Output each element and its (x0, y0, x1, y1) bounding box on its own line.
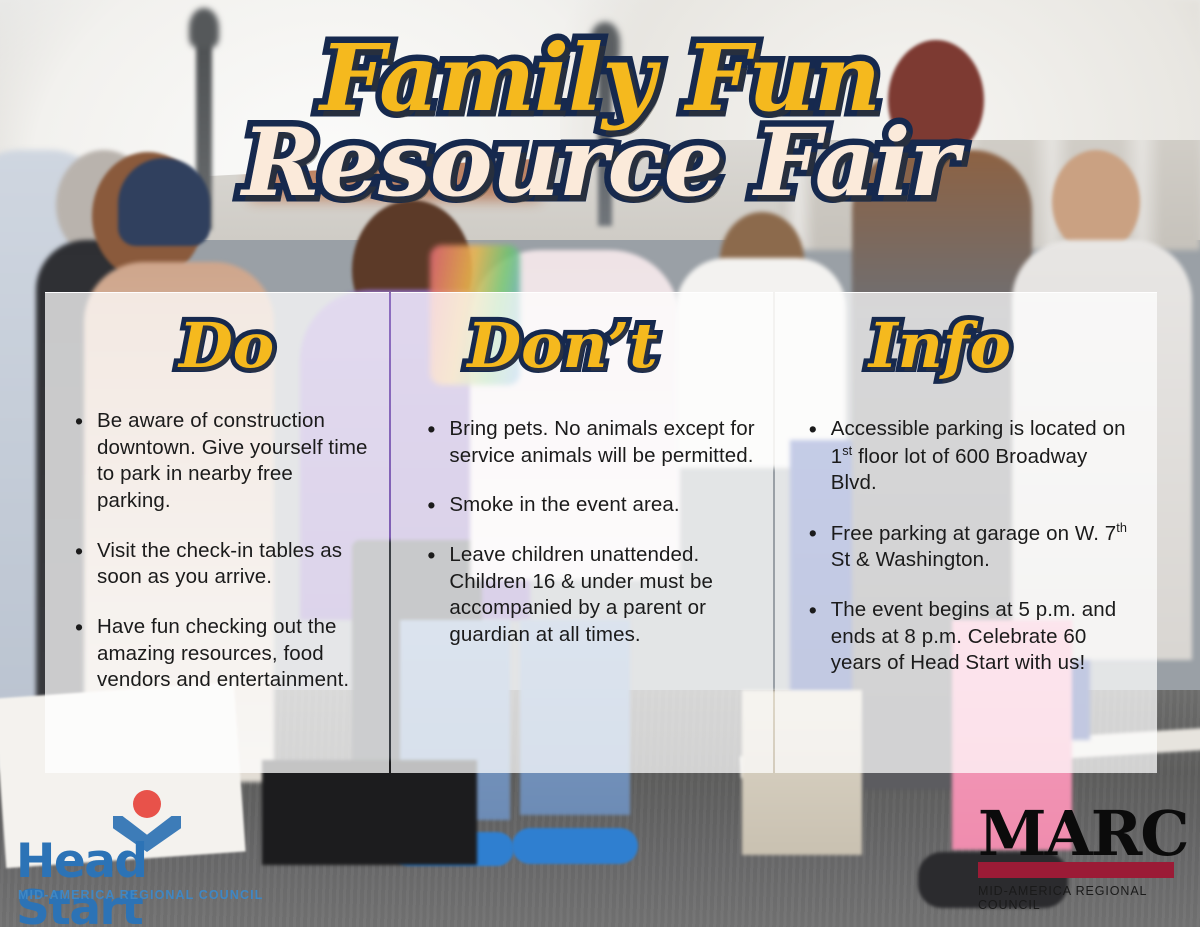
panel-do-list: Be aware of construction downtown. Give … (59, 408, 375, 694)
item-text-post: St & Washington. (831, 548, 990, 571)
list-item: Be aware of construction downtown. Give … (75, 408, 371, 515)
item-text-post: floor lot of 600 Broadway Blvd. (831, 445, 1088, 495)
ordinal-suffix: st (842, 443, 852, 458)
photo-tent-canopy-right (560, 0, 1200, 140)
marc-logo: MARC MID-AMERICA REGIONAL COUNCIL (978, 805, 1183, 900)
head-start-wordmark: Head Start (16, 838, 286, 927)
poster-canvas: Family Fun Resource Fair Do Be aware of … (0, 0, 1200, 927)
head-start-logo: Head Start MID-AMERICA REGIONAL COUNCIL (8, 790, 283, 910)
info-panels: Do Be aware of construction downtown. Gi… (45, 292, 1157, 773)
list-item: The event begins at 5 p.m. and ends at 8… (809, 597, 1139, 677)
photo-person-headwrap-scarf (118, 158, 210, 246)
item-text-pre: The event begins at 5 p.m. and ends at 8… (831, 598, 1117, 674)
head-start-subtitle: MID-AMERICA REGIONAL COUNCIL (18, 888, 263, 902)
panel-dont-list: Bring pets. No animals except for servic… (405, 416, 758, 648)
list-item: Accessible parking is located on 1st flo… (809, 416, 1139, 497)
list-item: Have fun checking out the amazing resour… (75, 614, 371, 694)
panel-dont-heading: Don’t (405, 313, 758, 378)
photo-sandal-right (512, 828, 638, 864)
head-start-sun-icon (133, 790, 161, 818)
panel-info-heading: Info (789, 313, 1143, 378)
list-item: Bring pets. No animals except for servic… (427, 416, 754, 469)
panel-info-list: Accessible parking is located on 1st flo… (789, 416, 1143, 677)
item-text-pre: Free parking at garage on W. 7 (831, 522, 1117, 545)
photo-street-lamp-right (598, 46, 612, 226)
ordinal-suffix: th (1116, 520, 1127, 535)
photo-person-tallhair-head (888, 40, 984, 160)
panel-dont: Don’t Bring pets. No animals except for … (391, 292, 772, 773)
list-item: Leave children unattended. Children 16 &… (427, 542, 754, 649)
panel-do: Do Be aware of construction downtown. Gi… (45, 292, 389, 773)
panel-do-heading: Do (59, 313, 375, 378)
photo-person-sunglasses-head (1052, 150, 1140, 254)
marc-subtitle: MID-AMERICA REGIONAL COUNCIL (978, 884, 1183, 912)
panel-info: Info Accessible parking is located on 1s… (775, 292, 1157, 773)
list-item: Visit the check-in tables as soon as you… (75, 538, 371, 591)
photo-black-tent-skirt (262, 760, 477, 865)
marc-wordmark: MARC (978, 805, 1183, 864)
list-item: Smoke in the event area. (427, 492, 754, 519)
list-item: Free parking at garage on W. 7th St & Wa… (809, 520, 1139, 574)
